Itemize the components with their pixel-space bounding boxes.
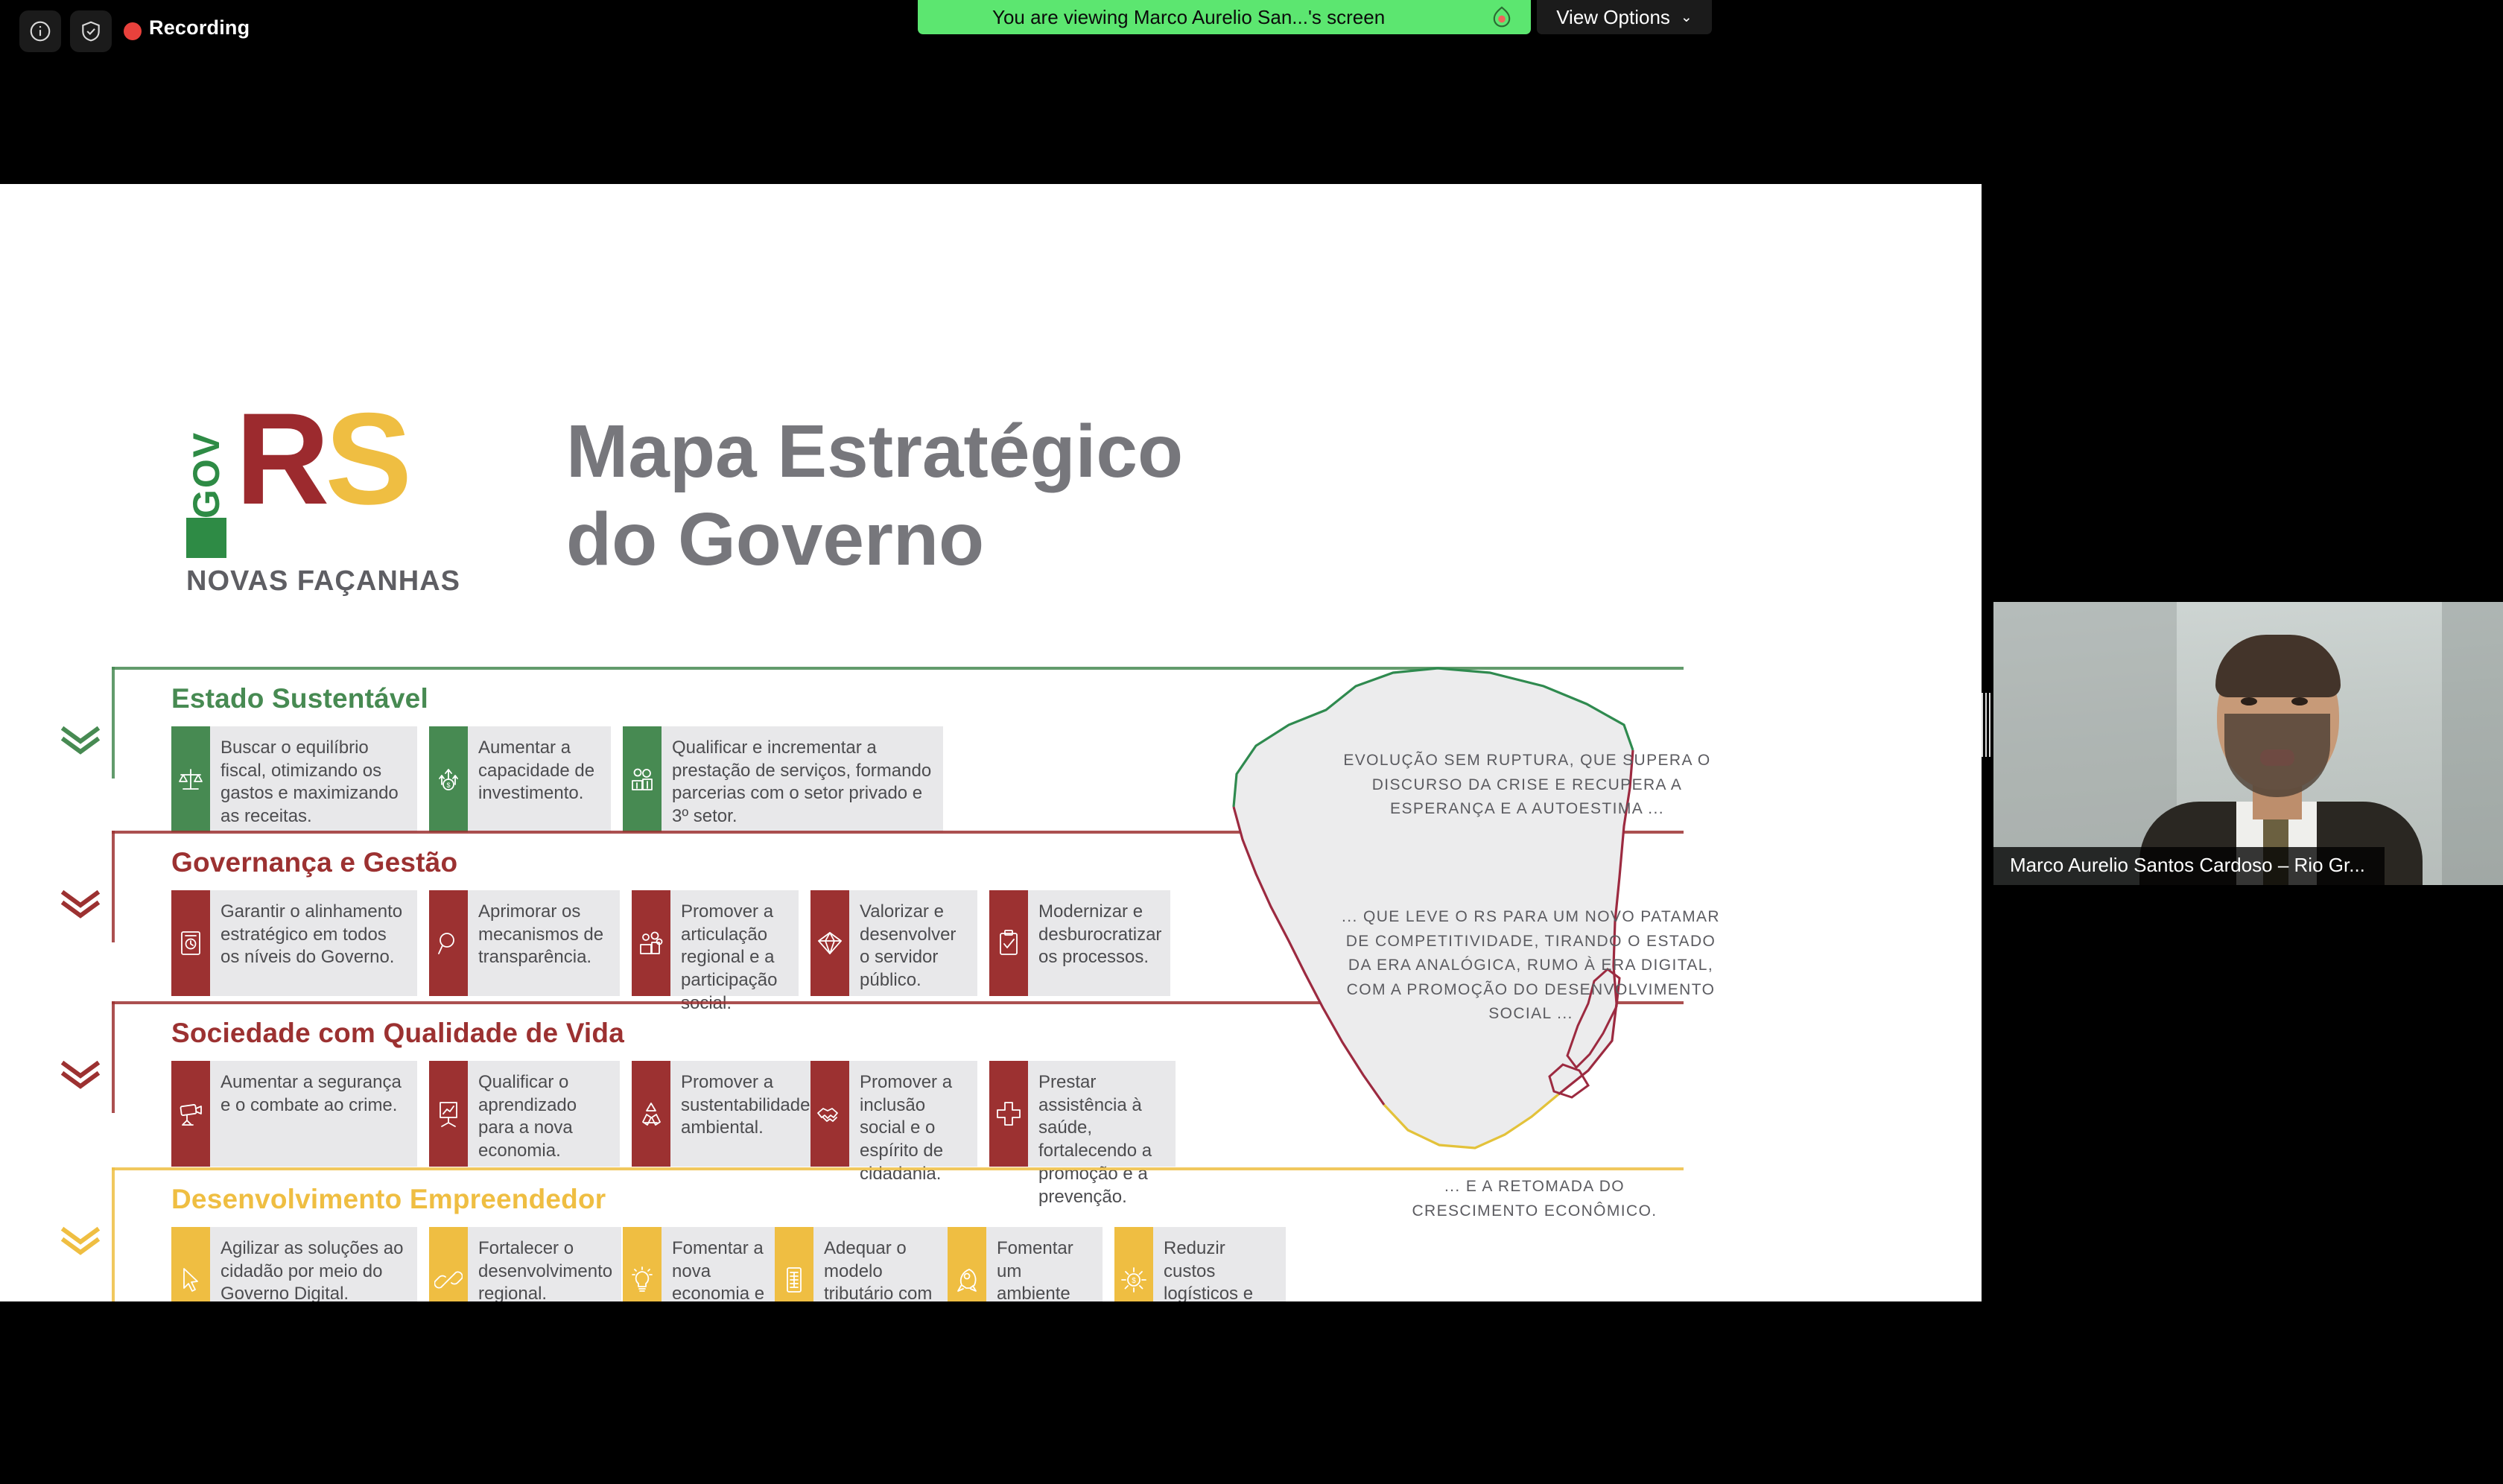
objective-card[interactable]: Promover a inclusão social e o espírito … bbox=[810, 1061, 977, 1167]
video-eye-left bbox=[2241, 697, 2257, 705]
medical-cross-icon bbox=[994, 1100, 1023, 1128]
band-title-3: Desenvolvimento Empreendedor bbox=[171, 1184, 606, 1215]
card-text: Qualificar e incrementar a prestação de … bbox=[662, 726, 943, 832]
govrs-logo: GOV RS NOVAS FAÇANHAS bbox=[185, 408, 460, 609]
logo-rs-text: RS bbox=[235, 394, 407, 524]
vision-text-3: ... e a retomada do crescimento econômic… bbox=[1400, 1175, 1669, 1223]
recording-label: Recording bbox=[149, 16, 250, 39]
band-title-1: Governança e Gestão bbox=[171, 847, 457, 878]
chain-link-icon bbox=[434, 1266, 463, 1294]
handshake-icon bbox=[816, 1100, 844, 1128]
color-block-red bbox=[1680, 555, 1982, 936]
easel-chart-icon bbox=[434, 1100, 463, 1128]
page-title: Mapa Estratégico do Governo bbox=[566, 408, 1609, 583]
objective-card[interactable]: Fomentar a nova economia e promover a in… bbox=[623, 1227, 763, 1301]
card-icon-bar bbox=[429, 890, 468, 996]
video-eye-right bbox=[2291, 697, 2308, 705]
card-icon-bar bbox=[810, 890, 849, 996]
meeting-info-button[interactable] bbox=[19, 10, 61, 52]
recycle-icon bbox=[637, 1100, 665, 1128]
scales-balance-icon bbox=[177, 765, 205, 793]
title-line-2: do Governo bbox=[566, 495, 1609, 583]
band-title-0: Estado Sustentável bbox=[171, 683, 428, 714]
band-chevron-3 bbox=[58, 1224, 103, 1258]
objective-card[interactable]: Fomentar um ambiente de negócios mais ág… bbox=[948, 1227, 1103, 1301]
card-icon-bar bbox=[810, 1061, 849, 1167]
card-icon-bar bbox=[623, 1227, 662, 1301]
people-partnership-icon bbox=[628, 765, 656, 793]
band-left-rule bbox=[112, 1167, 115, 1301]
card-icon-bar bbox=[632, 890, 670, 996]
title-line-1: Mapa Estratégico bbox=[566, 408, 1609, 495]
objective-card[interactable]: Agilizar as soluções ao cidadão por meio… bbox=[171, 1227, 417, 1301]
objective-card[interactable]: Buscar o equilíbrio fiscal, otimizando o… bbox=[171, 726, 417, 832]
card-text: Promover a inclusão social e o espírito … bbox=[849, 1061, 977, 1167]
card-icon-bar bbox=[171, 890, 210, 996]
band-chevron-2 bbox=[58, 1058, 103, 1092]
shield-check-icon bbox=[79, 19, 103, 43]
screen-share-banner-group: You are viewing Marco Aurelio San...'s s… bbox=[918, 0, 1712, 34]
objective-card[interactable]: Promover a articulação regional e a part… bbox=[632, 890, 799, 996]
card-icon-bar bbox=[429, 1061, 468, 1167]
logo-green-square bbox=[186, 518, 226, 558]
card-icon-bar bbox=[171, 1061, 210, 1167]
objective-card[interactable]: Aumentar a segurança e o combate ao crim… bbox=[171, 1061, 417, 1167]
card-icon-bar bbox=[989, 890, 1028, 996]
color-block-green bbox=[1680, 184, 1982, 555]
card-text: Promover a articulação regional e a part… bbox=[670, 890, 799, 996]
card-icon-bar: $ bbox=[429, 726, 468, 832]
magnifier-icon bbox=[434, 929, 463, 957]
band-chevron-0 bbox=[58, 723, 103, 758]
band-left-rule bbox=[112, 831, 115, 942]
rocket-icon bbox=[953, 1266, 981, 1294]
video-mouth bbox=[2260, 749, 2294, 766]
investment-growth-icon: $ bbox=[434, 765, 463, 793]
zoom-top-bar: Recording You are viewing Marco Aurelio … bbox=[0, 0, 2503, 63]
card-text: Aprimorar os mecanismos de transparência… bbox=[468, 890, 620, 996]
security-shield-button[interactable] bbox=[70, 10, 112, 52]
view-options-button[interactable]: View Options ⌄ bbox=[1537, 0, 1712, 34]
card-text: Aumentar a segurança e o combate ao crim… bbox=[210, 1061, 417, 1167]
card-text: Aumentar a capacidade de investimento. bbox=[468, 726, 611, 832]
pause-recording-icon[interactable] bbox=[1489, 4, 1514, 30]
band-left-rule bbox=[112, 667, 115, 779]
security-camera-icon bbox=[177, 1100, 205, 1128]
cursor-arrow-icon bbox=[177, 1266, 205, 1294]
card-text: Fomentar um ambiente de negócios mais ág… bbox=[986, 1227, 1103, 1301]
objective-card[interactable]: $Aumentar a capacidade de investimento. bbox=[429, 726, 611, 832]
card-text: Fortalecer o desenvolvimento regional. bbox=[468, 1227, 621, 1301]
shared-slide: GOV RS NOVAS FAÇANHAS Mapa Estratégico d… bbox=[0, 184, 1982, 1301]
logo-letter-s: S bbox=[325, 387, 407, 532]
card-text: Promover a sustentabilidade ambiental. bbox=[670, 1061, 819, 1167]
band-title-2: Sociedade com Qualidade de Vida bbox=[171, 1018, 624, 1049]
card-icon-bar bbox=[948, 1227, 986, 1301]
card-text: Agilizar as soluções ao cidadão por meio… bbox=[210, 1227, 417, 1301]
objective-card[interactable]: Fortalecer o desenvolvimento regional. bbox=[429, 1227, 611, 1301]
color-block-yellow bbox=[1680, 936, 1982, 1301]
vision-text-2: ... que leve o RS para um novo patamar d… bbox=[1341, 905, 1721, 1027]
tax-document-icon bbox=[780, 1266, 808, 1294]
card-text: Garantir o alinhamento estratégico em to… bbox=[210, 890, 417, 996]
objective-card[interactable]: Aprimorar os mecanismos de transparência… bbox=[429, 890, 620, 996]
objective-card[interactable]: Qualificar o aprendizado para a nova eco… bbox=[429, 1061, 620, 1167]
objective-card[interactable]: Adequar o modelo tributário com foco na … bbox=[775, 1227, 936, 1301]
card-text: Valorizar e desenvolver o servidor públi… bbox=[849, 890, 977, 996]
screen-share-banner[interactable]: You are viewing Marco Aurelio San...'s s… bbox=[918, 0, 1531, 34]
slide-color-blocks bbox=[1680, 184, 1982, 1301]
card-icon-bar bbox=[775, 1227, 813, 1301]
band-chevron-1 bbox=[58, 887, 103, 922]
band-card-list: Buscar o equilíbrio fiscal, otimizando o… bbox=[171, 726, 943, 832]
screen-share-text: You are viewing Marco Aurelio San...'s s… bbox=[992, 6, 1385, 29]
card-text: Buscar o equilíbrio fiscal, otimizando o… bbox=[210, 726, 417, 832]
diamond-icon bbox=[816, 929, 844, 957]
objective-card[interactable]: Promover a sustentabilidade ambiental. bbox=[632, 1061, 799, 1167]
logo-letter-r: R bbox=[235, 387, 325, 532]
objective-card[interactable]: Qualificar e incrementar a prestação de … bbox=[623, 726, 943, 832]
band-left-rule bbox=[112, 1001, 115, 1113]
video-drag-handle[interactable] bbox=[1982, 693, 1990, 757]
band-card-list: Garantir o alinhamento estratégico em to… bbox=[171, 890, 1161, 996]
band-card-list: Aumentar a segurança e o combate ao crim… bbox=[171, 1061, 1176, 1167]
community-group-icon bbox=[637, 929, 665, 957]
card-icon-bar bbox=[171, 1227, 210, 1301]
double-chevron-down-icon bbox=[58, 887, 103, 922]
view-options-label: View Options bbox=[1556, 6, 1670, 29]
card-text: Qualificar o aprendizado para a nova eco… bbox=[468, 1061, 620, 1167]
logo-tagline: NOVAS FAÇANHAS bbox=[186, 565, 460, 597]
objective-card[interactable]: Valorizar e desenvolver o servidor públi… bbox=[810, 890, 977, 996]
double-chevron-down-icon bbox=[58, 723, 103, 758]
vision-text-1: Evolução sem ruptura, que supera o discu… bbox=[1333, 749, 1721, 822]
document-clock-icon bbox=[177, 929, 205, 957]
lightbulb-icon bbox=[628, 1266, 656, 1294]
recording-indicator-dot bbox=[124, 22, 142, 40]
card-icon-bar bbox=[632, 1061, 670, 1167]
info-icon bbox=[28, 19, 52, 43]
participant-video-tile[interactable]: Marco Aurelio Santos Cardoso – Rio Gr... bbox=[1993, 602, 2503, 885]
card-icon-bar bbox=[171, 726, 210, 832]
clipboard-check-icon bbox=[994, 929, 1023, 957]
card-icon-bar bbox=[429, 1227, 468, 1301]
participant-name-label: Marco Aurelio Santos Cardoso – Rio Gr... bbox=[1993, 847, 2385, 885]
svg-text:$: $ bbox=[446, 781, 450, 789]
card-icon-bar bbox=[989, 1061, 1028, 1167]
double-chevron-down-icon bbox=[58, 1224, 103, 1258]
double-chevron-down-icon bbox=[58, 1058, 103, 1092]
objective-card[interactable]: Garantir o alinhamento estratégico em to… bbox=[171, 890, 417, 996]
video-wall-shadow-right bbox=[2442, 602, 2503, 885]
card-text: Adequar o modelo tributário com foco na … bbox=[813, 1227, 962, 1301]
chevron-down-icon: ⌄ bbox=[1681, 9, 1693, 26]
card-icon-bar bbox=[623, 726, 662, 832]
card-text: Fomentar a nova economia e promover a in… bbox=[662, 1227, 776, 1301]
